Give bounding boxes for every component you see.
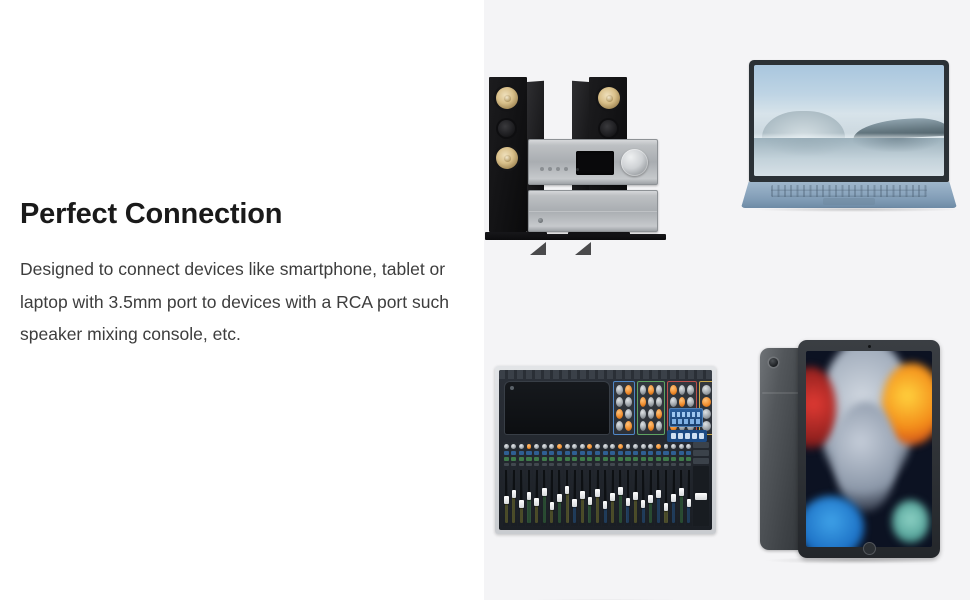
image-gallery-panel [484, 0, 970, 600]
wallpaper-blob-teal [892, 500, 930, 543]
tablet-home-button[interactable] [863, 542, 876, 555]
console-knob-group-blue [613, 381, 635, 435]
laptop-screen [754, 65, 944, 176]
channel-strip [549, 442, 555, 526]
product-feature-banner: Perfect Connection Designed to connect d… [0, 0, 970, 600]
channel-strip [541, 442, 547, 526]
console-knob-grid [616, 385, 632, 431]
amplifier-power-led [538, 218, 543, 223]
channel-strip [602, 442, 608, 526]
laptop-keyboard [771, 185, 927, 197]
amplifier-stack [528, 139, 658, 232]
tablet-shadow [766, 557, 942, 564]
channel-strip [610, 442, 616, 526]
console-armrest [499, 370, 712, 379]
console-knob-group-green [637, 381, 665, 435]
channel-strip [533, 442, 539, 526]
mixing-console-illustration [484, 300, 727, 600]
console-master-button [693, 450, 709, 456]
console-knob-grid [640, 385, 662, 431]
console-panel-led [510, 386, 514, 390]
speaker-woofer-driver [496, 147, 518, 169]
gallery-tile-speakers [484, 0, 727, 300]
channel-strip [556, 442, 562, 526]
gallery-tile-laptop [727, 0, 970, 300]
amplifier-seam [529, 211, 657, 212]
amplifier-volume-knob [621, 149, 648, 176]
console-master-button [693, 442, 709, 448]
channel-strip [617, 442, 623, 526]
amplifier-button [556, 167, 560, 171]
amplifier-power-unit [528, 190, 658, 232]
laptop-trackpad [823, 198, 875, 205]
gallery-tile-mixer [484, 300, 727, 600]
channel-strip [526, 442, 532, 526]
speaker-cabinet [489, 77, 527, 232]
speakers-amplifier-illustration [484, 0, 727, 300]
laptop-illustration [727, 0, 970, 300]
channel-strip [640, 442, 646, 526]
console-lcd-display [669, 408, 703, 427]
channel-strip [648, 442, 654, 526]
amplifier-preamp-unit [528, 139, 658, 185]
console-knob-grid [702, 385, 711, 431]
channel-strip [571, 442, 577, 526]
console-blank-panel [504, 381, 610, 435]
speaker-vent-upper [575, 242, 591, 255]
console-master-button [693, 458, 709, 464]
channel-strip [579, 442, 585, 526]
tablet-rear-camera [769, 358, 778, 367]
console-master-fader [693, 466, 709, 526]
speaker-plinth [568, 232, 630, 240]
tablet-device-pair [760, 340, 940, 558]
laptop-device [749, 60, 949, 208]
amplifier-button [540, 167, 544, 171]
laptop-shadow [755, 207, 959, 212]
amplifier-button [564, 167, 568, 171]
amplifier-display [576, 151, 614, 175]
wallpaper-blob-gray-inner [834, 402, 897, 512]
console-master-section [693, 442, 709, 526]
gallery-tile-tablet [727, 300, 970, 600]
speaker-tweeter-driver [496, 87, 518, 109]
channel-strip [511, 442, 517, 526]
laptop-lid [749, 60, 949, 182]
wallpaper-water [754, 138, 944, 176]
tablet-front-camera [868, 345, 871, 348]
channel-strip [625, 442, 631, 526]
speaker-midrange-driver [600, 120, 617, 137]
laptop-keyboard-deck [741, 182, 957, 208]
speaker-tweeter-driver [598, 87, 620, 109]
tablet-screen [806, 351, 932, 547]
speaker-midrange-driver [498, 120, 515, 137]
console-channel-strips [503, 442, 692, 526]
mixing-console-surface [499, 370, 712, 530]
console-button-panel [667, 430, 707, 442]
channel-strip [587, 442, 593, 526]
copy-block: Perfect Connection Designed to connect d… [20, 198, 470, 350]
channel-strip [670, 442, 676, 526]
channel-strip [655, 442, 661, 526]
mixing-console-device [495, 366, 716, 534]
channel-strip [663, 442, 669, 526]
tablet-front-view [798, 340, 940, 558]
amplifier-button-row [540, 167, 579, 171]
channel-strip [503, 442, 509, 526]
channel-strip [594, 442, 600, 526]
channel-strip [686, 442, 692, 526]
channel-strip [564, 442, 570, 526]
body-description: Designed to connect devices like smartph… [20, 253, 472, 350]
amplifier-button [548, 167, 552, 171]
text-panel: Perfect Connection Designed to connect d… [0, 0, 484, 600]
channel-strip [678, 442, 684, 526]
channel-strip [518, 442, 524, 526]
channel-strip [632, 442, 638, 526]
speaker-plinth [485, 232, 547, 240]
page-title: Perfect Connection [20, 198, 470, 231]
tablet-illustration [727, 300, 970, 600]
speaker-vent-upper [530, 242, 546, 255]
amplifier-sensor-dot [576, 168, 579, 171]
